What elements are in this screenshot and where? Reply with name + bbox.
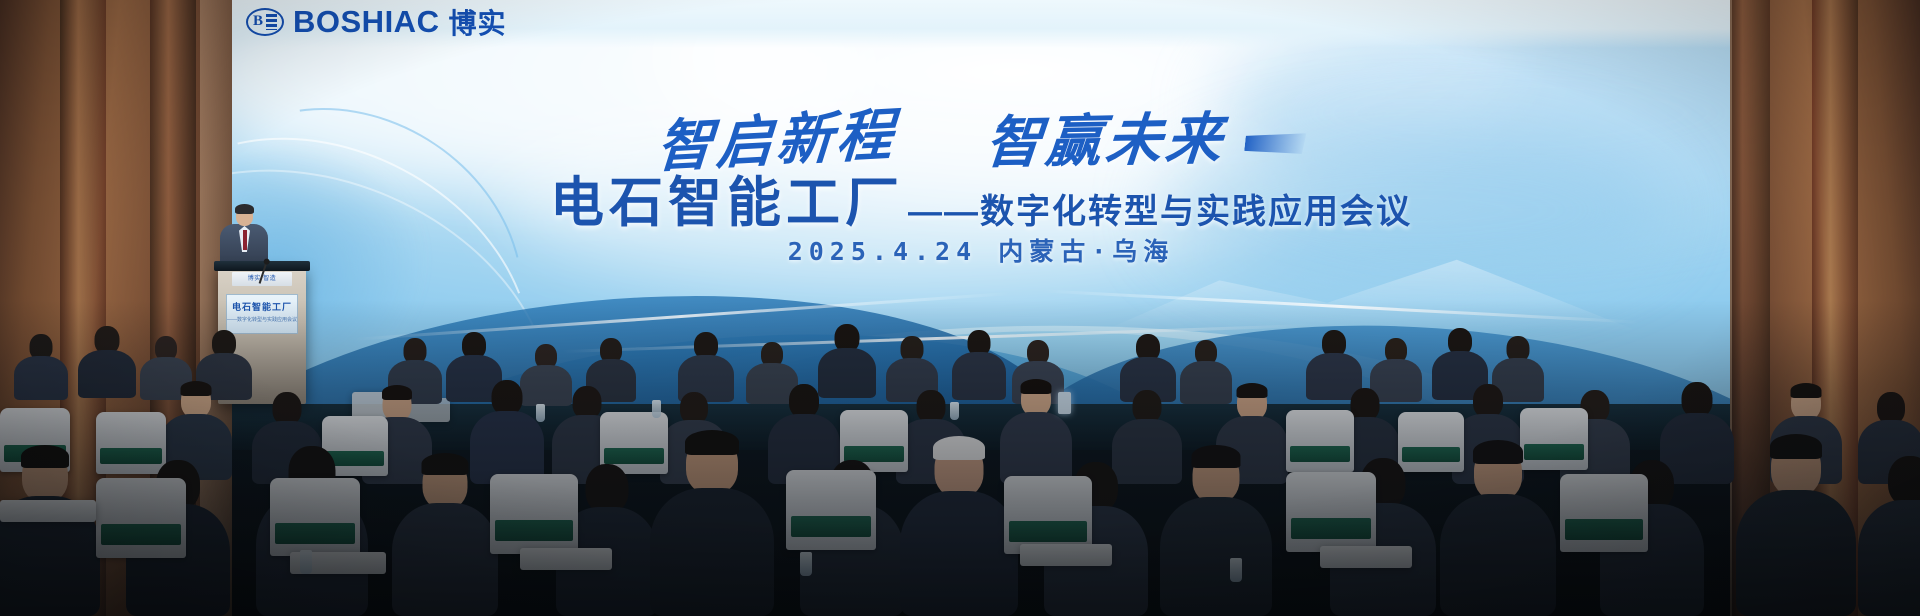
- water-glass-icon: [652, 400, 661, 418]
- audience-member: [78, 326, 136, 398]
- table-edge: [0, 500, 96, 522]
- subtitle-text: 数字化转型与实践应用会议: [980, 193, 1412, 231]
- screen-logo-bar: B BOSHIAC 博实: [232, 0, 1730, 48]
- table-edge: [1320, 546, 1412, 568]
- audience-member: [1440, 446, 1556, 616]
- smartphone-icon: [1058, 392, 1071, 414]
- chair: [96, 478, 186, 558]
- boshiac-oval-logo-icon: B: [246, 8, 284, 36]
- chair: [1286, 472, 1376, 552]
- audience-member: [1858, 456, 1920, 616]
- audience-member: [650, 436, 774, 616]
- audience-member: [1160, 450, 1272, 616]
- conference-hall-photo: B BOSHIAC 博实 智启新程 智赢未来 电石智能工厂 ——数字化转型与实践…: [0, 0, 1920, 616]
- event-date-location: 2025.4.24 内蒙古·乌海: [232, 232, 1730, 268]
- water-glass-icon: [800, 552, 812, 576]
- logo-chinese-name: 博实: [448, 2, 506, 42]
- water-glass-icon: [950, 402, 959, 420]
- screen-title-row: 电石智能工厂 ——数字化转型与实践应用会议: [232, 158, 1730, 237]
- table-edge: [520, 548, 612, 570]
- audience-area: [0, 300, 1920, 616]
- table-edge: [1020, 544, 1112, 566]
- chair: [270, 478, 360, 556]
- audience-member: [900, 442, 1018, 616]
- water-glass-icon: [1230, 558, 1242, 582]
- logo-english-name: BOSHIAC: [293, 4, 439, 40]
- audience-member: [14, 334, 68, 400]
- boshiac-logo: B BOSHIAC 博实: [246, 2, 506, 42]
- audience-member: [392, 458, 498, 616]
- audience-member: [0, 450, 100, 616]
- chair: [1004, 476, 1092, 554]
- page-subtitle: ——数字化转型与实践应用会议: [908, 184, 1412, 237]
- chair: [786, 470, 876, 550]
- audience-member: [1736, 440, 1856, 616]
- page-title: 电石智能工厂: [550, 158, 904, 237]
- water-glass-icon: [300, 550, 312, 574]
- chair: [1560, 474, 1648, 552]
- subtitle-dash: ——: [908, 193, 980, 231]
- water-glass-icon: [536, 404, 545, 422]
- chair: [490, 474, 578, 554]
